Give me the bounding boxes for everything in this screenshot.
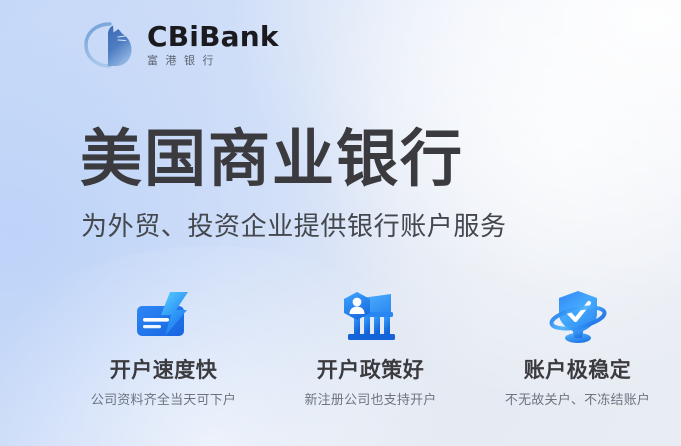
promo-banner: CBiBank 富港银行 美国商业银行 为外贸、投资企业提供银行账户服务 xyxy=(0,0,681,446)
feature-item-policy: 开户政策好 新注册公司也支持开户 xyxy=(267,288,474,406)
feature-item-stability: 账户极稳定 不无故关户、不冻结账户 xyxy=(474,288,681,406)
brand-logo[interactable]: CBiBank 富港银行 xyxy=(82,18,279,72)
feature-description: 公司资料齐全当天可下户 xyxy=(91,393,236,406)
feature-description: 不无故关户、不冻结账户 xyxy=(505,393,650,406)
shield-check-orbit-icon xyxy=(546,288,610,346)
bank-building-person-icon xyxy=(339,288,403,346)
brand-chinese-name: 富港银行 xyxy=(147,56,279,67)
feature-title: 开户速度快 xyxy=(110,360,218,381)
feature-description: 新注册公司也支持开户 xyxy=(304,393,436,406)
feature-list: 开户速度快 公司资料齐全当天可下户 xyxy=(60,288,681,406)
hero-subheadline: 为外贸、投资企业提供银行账户服务 xyxy=(81,211,507,242)
brand-wordmark: CBiBank xyxy=(147,23,279,51)
feature-title: 账户极稳定 xyxy=(524,360,632,381)
feature-item-speed: 开户速度快 公司资料齐全当天可下户 xyxy=(60,288,267,406)
brand-logo-text: CBiBank 富港银行 xyxy=(147,23,279,67)
feature-title: 开户政策好 xyxy=(317,360,425,381)
cbibank-cat-c-logo-icon xyxy=(82,18,138,72)
card-lightning-icon xyxy=(132,288,196,346)
hero-headline: 美国商业银行 xyxy=(80,125,464,194)
